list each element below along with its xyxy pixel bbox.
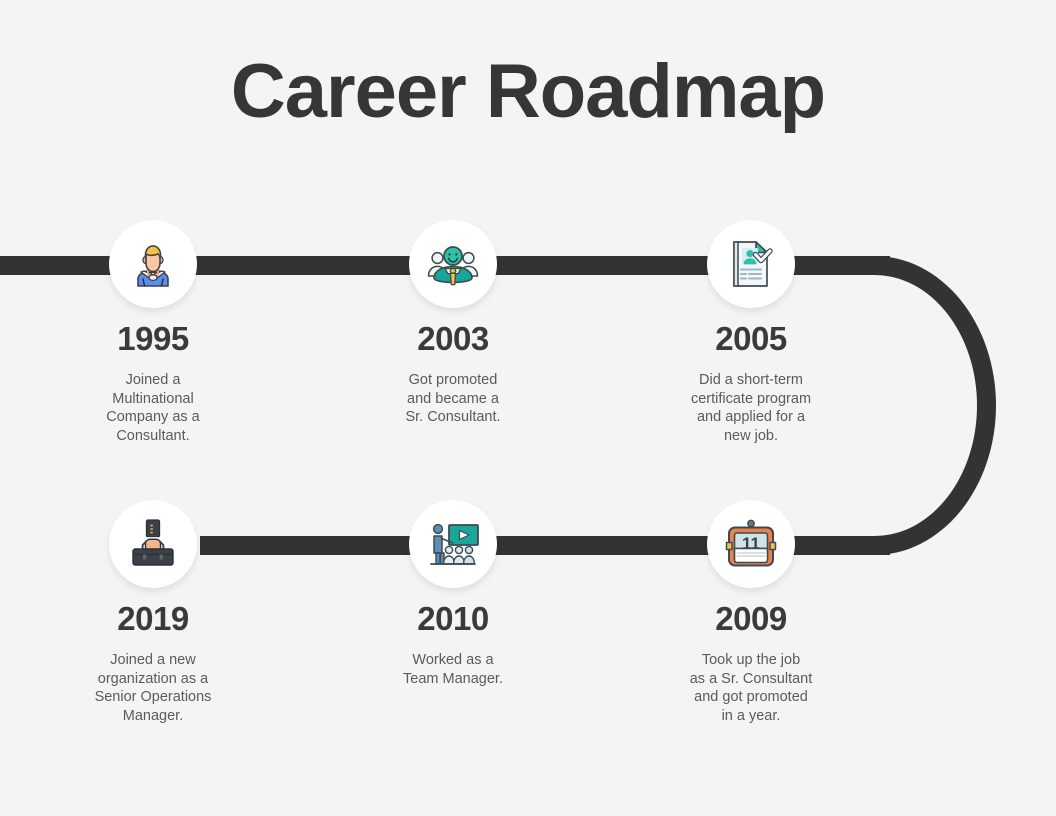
briefcase-hand-icon: [125, 516, 181, 572]
milestone-year: 2019: [43, 602, 263, 635]
milestone-node-2009[interactable]: 11: [707, 500, 795, 588]
milestone-node-2010[interactable]: [409, 500, 497, 588]
milestone-2010[interactable]: 2010 Worked as aTeam Manager.: [343, 500, 563, 688]
milestone-node-2019[interactable]: [109, 500, 197, 588]
milestone-year: 2005: [641, 322, 861, 355]
milestone-2009[interactable]: 11 2009 Took up the jobas a Sr. Consulta…: [641, 500, 861, 725]
team-leader-icon: [425, 236, 481, 292]
milestone-1995[interactable]: 1995 Joined aMultinationalCompany as aCo…: [43, 220, 263, 445]
businessman-icon: [125, 236, 181, 292]
career-roadmap-infographic: Career Roadmap 1995: [0, 0, 1056, 816]
milestone-2019[interactable]: 2019 Joined a neworganization as aSenior…: [43, 500, 263, 725]
milestone-description: Got promotedand became aSr. Consultant.: [343, 371, 563, 427]
milestone-node-2003[interactable]: [409, 220, 497, 308]
presentation-icon: [425, 516, 481, 572]
resume-approved-icon: [723, 236, 779, 292]
milestone-description: Joined aMultinationalCompany as aConsult…: [43, 371, 263, 445]
milestone-2003[interactable]: 2003 Got promotedand became aSr. Consult…: [343, 220, 563, 427]
milestone-node-2005[interactable]: [707, 220, 795, 308]
milestone-description: Joined a neworganization as aSenior Oper…: [43, 651, 263, 725]
milestone-description: Did a short-termcertificate programand a…: [641, 371, 861, 445]
timeline-track-uturn: [874, 256, 996, 555]
milestone-node-1995[interactable]: [109, 220, 197, 308]
milestone-2005[interactable]: 2005 Did a short-termcertificate program…: [641, 220, 861, 445]
milestone-year: 1995: [43, 322, 263, 355]
milestone-year: 2009: [641, 602, 861, 635]
calendar-icon: 11: [723, 516, 779, 572]
milestone-description: Took up the jobas a Sr. Consultantand go…: [641, 651, 861, 725]
milestone-year: 2003: [343, 322, 563, 355]
milestone-description: Worked as aTeam Manager.: [343, 651, 563, 688]
milestone-year: 2010: [343, 602, 563, 635]
page-title: Career Roadmap: [0, 52, 1056, 132]
